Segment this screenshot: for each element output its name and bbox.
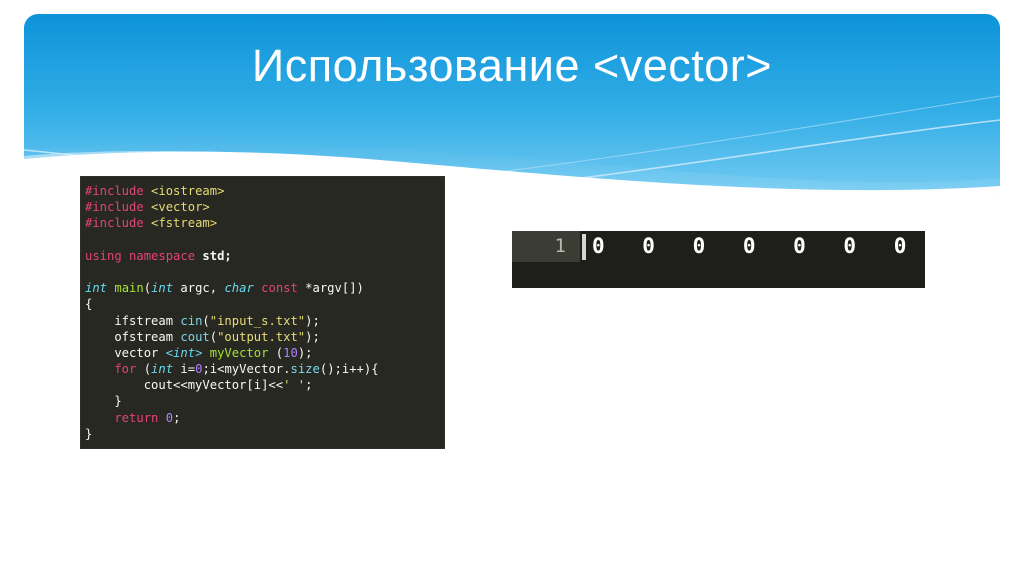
output-line-number: 1 bbox=[512, 231, 580, 262]
code-token: ( bbox=[202, 314, 209, 328]
program-output-panel: 1 0 0 0 0 0 0 0 0 0 0 bbox=[512, 231, 925, 288]
code-token: ;i<myVector. bbox=[202, 362, 290, 376]
code-line bbox=[85, 232, 444, 248]
code-token: ); bbox=[305, 330, 320, 344]
code-token: cout bbox=[180, 330, 209, 344]
output-caret bbox=[582, 234, 586, 260]
cpp-code-screenshot: #include <iostream>#include <vector>#inc… bbox=[81, 177, 444, 448]
code-token: <vector> bbox=[151, 200, 210, 214]
output-text: 0 0 0 0 0 0 0 0 0 0 bbox=[592, 231, 925, 262]
code-line: ifstream cin("input_s.txt"); bbox=[85, 313, 444, 329]
code-line: { bbox=[85, 296, 444, 312]
code-token: { bbox=[85, 297, 92, 311]
code-token: vector bbox=[85, 346, 166, 360]
code-line: cout<<myVector[i]<<' '; bbox=[85, 377, 444, 393]
code-token: int bbox=[85, 281, 114, 295]
code-line: int main(int argc, char const *argv[]) bbox=[85, 280, 444, 296]
output-line-number-gutter: 1 bbox=[512, 231, 580, 262]
code-token: const bbox=[261, 281, 305, 295]
code-token: ofstream bbox=[85, 330, 180, 344]
code-token: myVector bbox=[210, 346, 269, 360]
code-line: for (int i=0;i<myVector.size();i++){ bbox=[85, 361, 444, 377]
code-token: ( bbox=[144, 281, 151, 295]
code-token: std; bbox=[202, 249, 231, 263]
code-token: } bbox=[85, 394, 122, 408]
code-token: "output.txt" bbox=[217, 330, 305, 344]
code-token: ( bbox=[144, 362, 151, 376]
code-token: "input_s.txt" bbox=[210, 314, 305, 328]
code-token: size bbox=[291, 362, 320, 376]
code-token: for bbox=[85, 362, 144, 376]
code-line: } bbox=[85, 426, 444, 442]
code-token: #include bbox=[85, 184, 151, 198]
code-token: using namespace bbox=[85, 249, 202, 263]
code-token: <fstream> bbox=[151, 216, 217, 230]
code-token: ' ' bbox=[283, 378, 305, 392]
code-token: *argv[]) bbox=[305, 281, 364, 295]
code-token: argc, bbox=[180, 281, 224, 295]
code-token: int bbox=[151, 281, 180, 295]
code-token: char bbox=[224, 281, 261, 295]
code-token: main bbox=[114, 281, 143, 295]
code-token: return bbox=[85, 411, 166, 425]
code-token: ); bbox=[298, 346, 313, 360]
code-line: #include <fstream> bbox=[85, 215, 444, 231]
code-token: <iostream> bbox=[151, 184, 224, 198]
code-token: ; bbox=[173, 411, 180, 425]
code-token: 10 bbox=[283, 346, 298, 360]
code-token: ();i++){ bbox=[320, 362, 379, 376]
code-token: <int> bbox=[166, 346, 203, 360]
code-token: #include bbox=[85, 200, 151, 214]
code-line: return 0; bbox=[85, 410, 444, 426]
code-token: cout<<myVector[i]<< bbox=[85, 378, 283, 392]
code-token: cin bbox=[180, 314, 202, 328]
code-token: } bbox=[85, 427, 92, 441]
code-token: ); bbox=[305, 314, 320, 328]
code-token: int bbox=[151, 362, 180, 376]
code-token: #include bbox=[85, 216, 151, 230]
code-line bbox=[85, 264, 444, 280]
code-line: #include <iostream> bbox=[85, 183, 444, 199]
code-token bbox=[202, 346, 209, 360]
code-token: 0 bbox=[166, 411, 173, 425]
code-line: #include <vector> bbox=[85, 199, 444, 215]
code-line: ofstream cout("output.txt"); bbox=[85, 329, 444, 345]
code-line: } bbox=[85, 393, 444, 409]
code-token: ; bbox=[305, 378, 312, 392]
code-line: vector <int> myVector (10); bbox=[85, 345, 444, 361]
slide: Использование <vector> #include <iostrea… bbox=[0, 0, 1024, 574]
code-line: using namespace std; bbox=[85, 248, 444, 264]
code-token: ( bbox=[210, 330, 217, 344]
code-token: i= bbox=[180, 362, 195, 376]
code-token: ( bbox=[268, 346, 283, 360]
page-title: Использование <vector> bbox=[0, 38, 1024, 94]
code-token: ifstream bbox=[85, 314, 180, 328]
